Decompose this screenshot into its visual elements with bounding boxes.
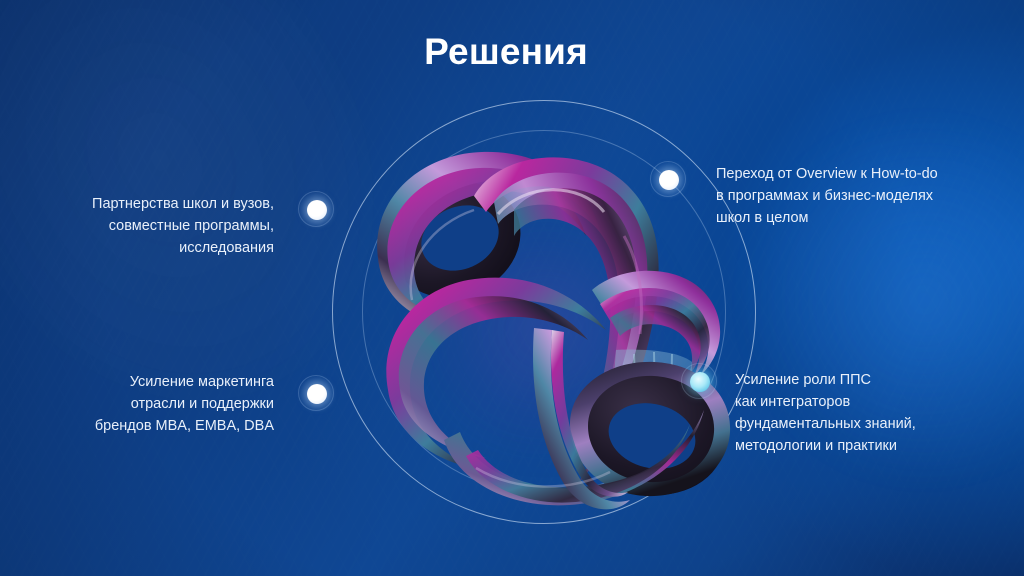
page-title: Решения xyxy=(0,30,1012,74)
callout-top-left: Партнерства школ и вузов, совместные про… xyxy=(40,193,274,259)
node-top-right[interactable] xyxy=(659,170,679,190)
node-bottom-left[interactable] xyxy=(307,384,327,404)
callout-bottom-right: Усиление роли ППС как интеграторов фунда… xyxy=(735,369,985,457)
node-bottom-right[interactable] xyxy=(690,372,710,392)
node-dot-icon xyxy=(307,384,327,404)
callout-top-right: Переход от Overview к How-to-do в програ… xyxy=(716,163,982,229)
slide-canvas: Решения xyxy=(0,0,1024,576)
callout-bottom-left: Усиление маркетинга отрасли и поддержки … xyxy=(40,371,274,437)
node-dot-icon xyxy=(690,372,710,392)
node-dot-icon xyxy=(307,200,327,220)
node-dot-icon xyxy=(659,170,679,190)
node-top-left[interactable] xyxy=(307,200,327,220)
